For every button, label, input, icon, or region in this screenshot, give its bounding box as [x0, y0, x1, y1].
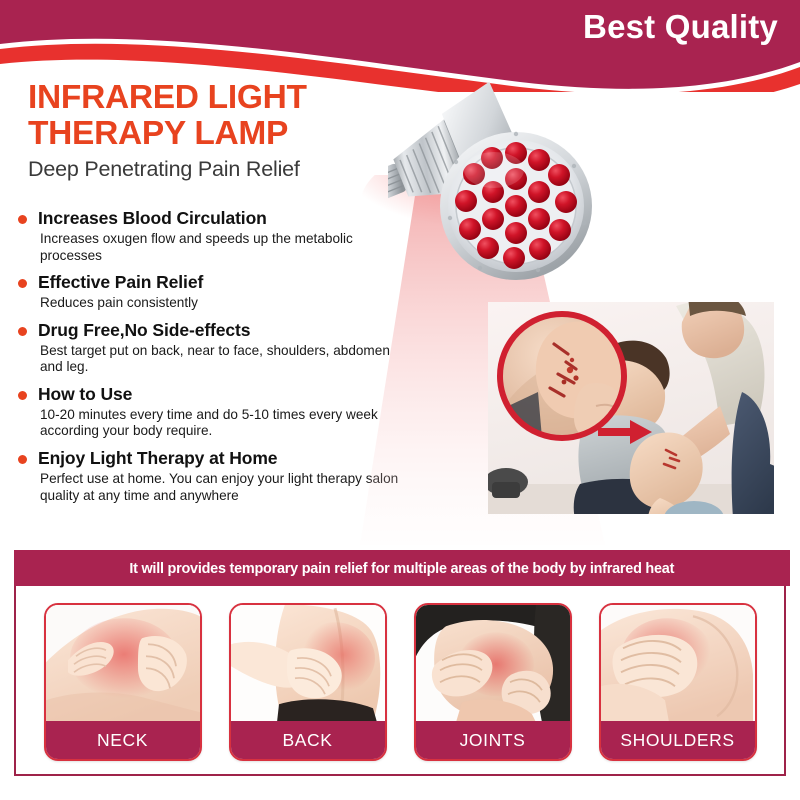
card-label-shoulders: SHOULDERS	[601, 721, 755, 759]
bullet-dot-icon	[18, 327, 27, 336]
knee-joint-pain-photo	[416, 605, 570, 721]
title-line-1: INFRARED LIGHT	[28, 80, 408, 116]
card-label-joints: JOINTS	[416, 721, 570, 759]
bullet-dot-icon	[18, 455, 27, 464]
card-label-neck: NECK	[46, 721, 200, 759]
feature-list: Increases Blood Circulation Increases ox…	[14, 208, 414, 512]
back-pain-photo	[231, 605, 385, 721]
page-title: INFRARED LIGHT THERAPY LAMP Deep Penetra…	[28, 80, 408, 182]
shoulder-pain-photo	[601, 605, 755, 721]
bullet-dot-icon	[18, 391, 27, 400]
product-lamp-image	[388, 78, 618, 308]
bullet-dot-icon	[18, 279, 27, 288]
body-areas-section: It will provides temporary pain relief f…	[14, 550, 786, 776]
neck-pain-photo	[46, 605, 200, 721]
feature-item: How to Use 10-20 minutes every time and …	[14, 384, 414, 440]
product-infographic: Best Quality INFRARED LIGHT THERAPY LAMP…	[0, 0, 800, 800]
body-area-cards: NECK	[16, 590, 784, 774]
title-subtitle: Deep Penetrating Pain Relief	[28, 157, 408, 182]
feature-item: Drug Free,No Side-effects Best target pu…	[14, 320, 414, 376]
treatment-photo	[480, 288, 780, 530]
body-area-card-back[interactable]: BACK	[229, 603, 387, 761]
feature-item: Increases Blood Circulation Increases ox…	[14, 208, 414, 264]
body-area-card-joints[interactable]: JOINTS	[414, 603, 572, 761]
bullet-dot-icon	[18, 215, 27, 224]
title-line-2: THERAPY LAMP	[28, 116, 408, 152]
banner-text: It will provides temporary pain relief f…	[130, 560, 675, 577]
body-area-card-neck[interactable]: NECK	[44, 603, 202, 761]
card-label-back: BACK	[231, 721, 385, 759]
body-area-card-shoulders[interactable]: SHOULDERS	[599, 603, 757, 761]
feature-item: Effective Pain Relief Reduces pain consi…	[14, 272, 414, 312]
best-quality-badge: Best Quality	[583, 8, 778, 46]
section-banner: It will provides temporary pain relief f…	[14, 550, 790, 586]
feature-item: Enjoy Light Therapy at Home Perfect use …	[14, 448, 414, 504]
